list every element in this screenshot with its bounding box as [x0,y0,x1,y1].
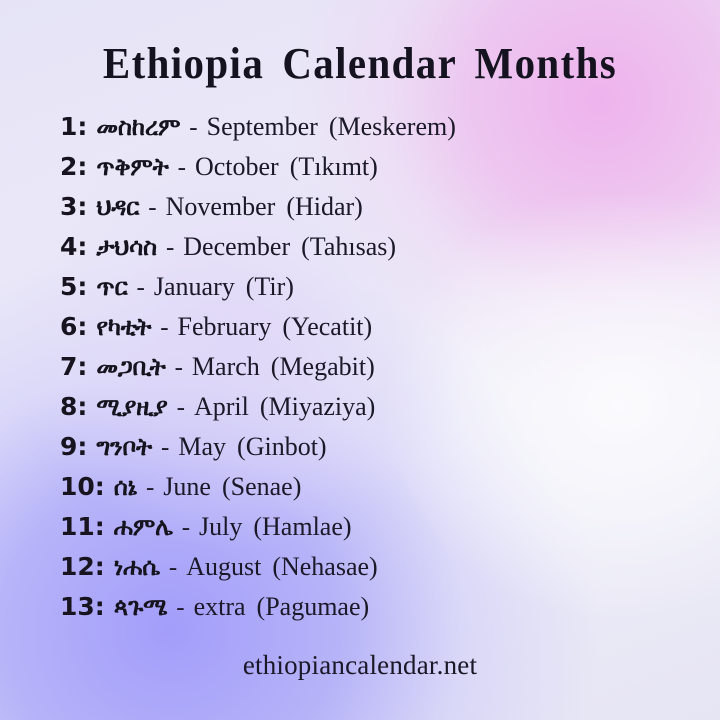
month-name-transliteration: (Senae) [222,472,301,502]
month-separator: - [177,394,185,422]
month-row: 6:የካቲት-February(Yecatit) [60,312,680,352]
month-row: 2:ጥቅምት-October(Tıkımt) [60,152,680,192]
month-separator: - [176,594,184,622]
month-number: 11: [60,512,105,541]
month-number: 2: [60,152,87,181]
month-row: 12:ነሐሴ-August(Nehasae) [60,552,680,592]
month-number: 8: [60,392,87,421]
month-name-english: July [199,512,242,542]
month-name-ethiopic: ነሐሴ [114,553,160,581]
month-row: 10:ሰኔ-June(Senae) [60,472,680,512]
month-name-ethiopic: የካቲት [96,313,151,341]
month-separator: - [189,114,197,142]
month-row: 4:ታህሳስ-December(Tahısas) [60,232,680,272]
month-name-ethiopic: ጥር [96,273,127,301]
month-name-english: June [163,472,211,502]
month-separator: - [178,154,186,182]
month-name-ethiopic: መስከረም [96,113,180,141]
month-name-english: September [207,112,318,142]
month-separator: - [137,274,145,302]
month-name-ethiopic: መጋቢት [96,353,165,381]
month-name-ethiopic: ጥቅምት [96,153,168,181]
month-separator: - [169,554,177,582]
month-number: 10: [60,472,105,501]
month-separator: - [148,194,156,222]
month-separator: - [146,474,154,502]
month-name-transliteration: (Hamlae) [253,512,351,542]
month-name-english: November [166,192,276,222]
month-name-ethiopic: ህዳር [96,193,139,221]
month-number: 3: [60,192,87,221]
month-name-english: May [178,432,226,462]
month-name-english: March [192,352,260,382]
month-separator: - [182,514,190,542]
month-name-english: extra [194,592,246,622]
month-name-transliteration: (Tahısas) [301,232,396,262]
month-number: 4: [60,232,87,261]
month-name-english: December [183,232,290,262]
month-name-ethiopic: ሐምሌ [114,513,173,541]
month-number: 6: [60,312,87,341]
month-name-transliteration: (Meskerem) [329,112,456,142]
month-name-transliteration: (Yecatit) [282,312,372,342]
month-name-ethiopic: ግንቦት [96,433,152,461]
month-separator: - [175,354,183,382]
website-footer: ethiopiancalendar.net [0,650,720,681]
month-name-english: October [195,152,279,182]
month-list: 1:መስከረም-September(Meskerem)2:ጥቅምት-Octobe… [60,112,680,632]
month-number: 12: [60,552,105,581]
month-number: 9: [60,432,87,461]
month-name-transliteration: (Megabit) [271,352,375,382]
month-separator: - [160,314,168,342]
month-row: 3:ህዳር-November(Hidar) [60,192,680,232]
month-row: 7:መጋቢት-March(Megabit) [60,352,680,392]
month-name-transliteration: (Nehasae) [272,552,377,582]
month-row: 11:ሐምሌ-July(Hamlae) [60,512,680,552]
month-number: 5: [60,272,87,301]
month-number: 13: [60,592,105,621]
month-name-english: April [194,392,249,422]
month-row: 5:ጥር-January(Tir) [60,272,680,312]
calendar-poster: Ethiopia Calendar Months 1:መስከረም-Septemb… [0,0,720,720]
month-name-transliteration: (Tir) [246,272,294,302]
month-name-ethiopic: ታህሳስ [96,233,157,261]
month-separator: - [166,234,174,262]
month-name-english: February [178,312,272,342]
month-name-ethiopic: ሰኔ [114,473,137,501]
month-name-transliteration: (Tıkımt) [290,152,378,182]
month-name-english: August [186,552,261,582]
poster-content: Ethiopia Calendar Months 1:መስከረም-Septemb… [0,0,720,720]
month-name-transliteration: (Miyaziya) [260,392,376,422]
month-row: 9:ግንቦት-May(Ginbot) [60,432,680,472]
month-name-transliteration: (Ginbot) [237,432,327,462]
month-row: 8:ሚያዚያ-April(Miyaziya) [60,392,680,432]
month-number: 7: [60,352,87,381]
month-separator: - [161,434,169,462]
month-name-ethiopic: ጳጉሜ [114,593,167,621]
month-name-english: January [154,272,235,302]
month-number: 1: [60,112,87,141]
month-name-transliteration: (Hidar) [286,192,363,222]
month-name-transliteration: (Pagumae) [257,592,370,622]
month-row: 1:መስከረም-September(Meskerem) [60,112,680,152]
page-title: Ethiopia Calendar Months [25,38,695,89]
month-name-ethiopic: ሚያዚያ [96,393,167,421]
month-row: 13:ጳጉሜ-extra(Pagumae) [60,592,680,632]
